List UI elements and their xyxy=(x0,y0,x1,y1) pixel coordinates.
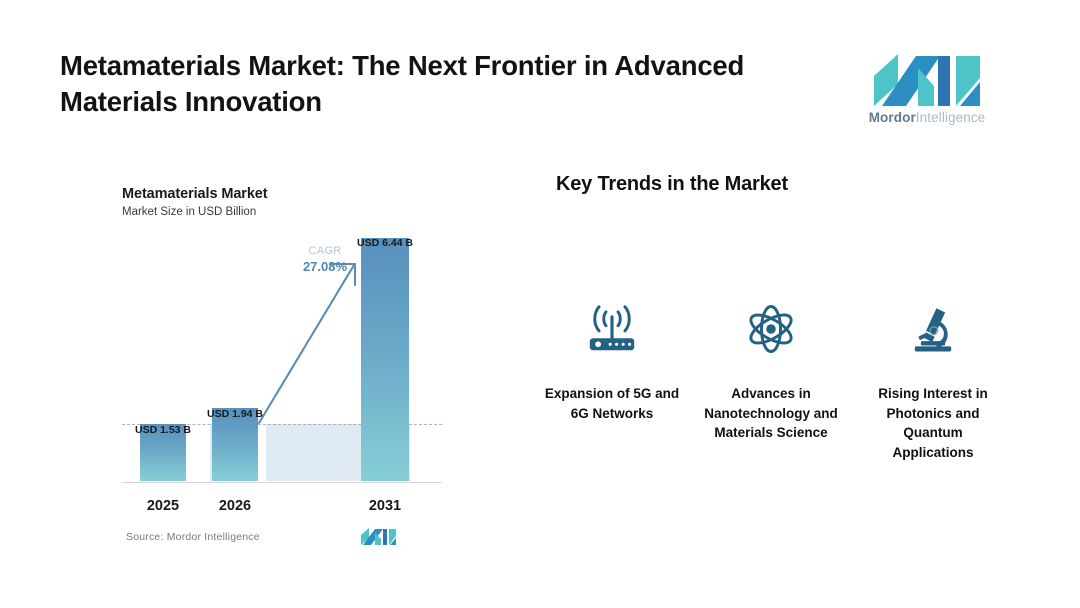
bar-2031 xyxy=(361,238,409,481)
cagr-label: CAGR xyxy=(282,245,368,259)
brand-logo: MordorIntelligence xyxy=(852,54,1002,140)
mordor-intelligence-logo-icon xyxy=(872,54,980,106)
x-label-2025: 2025 xyxy=(122,498,204,514)
chart-source-text: Source: Mordor Intelligence xyxy=(126,531,260,543)
cagr-callout: CAGR 27.08% xyxy=(282,245,368,275)
trend-card-3: Rising Interest in Photonics and Quantum… xyxy=(862,300,1004,462)
trend-label-2: Advances in Nanotechnology and Materials… xyxy=(700,384,842,443)
chart-plot-area: USD 1.53 B USD 1.94 B USD 6.44 B CAGR 27… xyxy=(122,251,442,496)
brand-wordmark: MordorIntelligence xyxy=(852,110,1002,125)
market-size-chart: Metamaterials Market Market Size in USD … xyxy=(122,186,442,551)
source-logo-icon xyxy=(360,528,396,545)
cagr-value: 27.08% xyxy=(282,259,368,275)
slot-gap-3 xyxy=(410,424,442,481)
atom-icon xyxy=(700,300,842,358)
brand-name-light: Intelligence xyxy=(916,110,986,125)
value-label-2026: USD 1.94 B xyxy=(188,408,282,420)
wifi-router-icon xyxy=(541,300,683,358)
chart-subtitle: Market Size in USD Billion xyxy=(122,206,442,218)
x-axis-line xyxy=(122,482,442,484)
brand-name-bold: Mordor xyxy=(869,110,916,125)
page-title: Metamaterials Market: The Next Frontier … xyxy=(60,48,760,121)
x-label-2026: 2026 xyxy=(194,498,276,514)
trend-card-2: Advances in Nanotechnology and Materials… xyxy=(700,300,842,443)
microscope-icon xyxy=(862,300,1004,358)
key-trends-heading: Key Trends in the Market xyxy=(556,173,788,196)
slot-gap-2 xyxy=(258,424,266,481)
value-label-2025: USD 1.53 B xyxy=(116,424,210,436)
chart-title: Metamaterials Market xyxy=(122,186,442,202)
x-label-2031: 2031 xyxy=(344,498,426,514)
trend-label-3: Rising Interest in Photonics and Quantum… xyxy=(862,384,1004,462)
trend-label-1: Expansion of 5G and 6G Networks xyxy=(541,384,683,423)
trend-card-1: Expansion of 5G and 6G Networks xyxy=(541,300,683,423)
